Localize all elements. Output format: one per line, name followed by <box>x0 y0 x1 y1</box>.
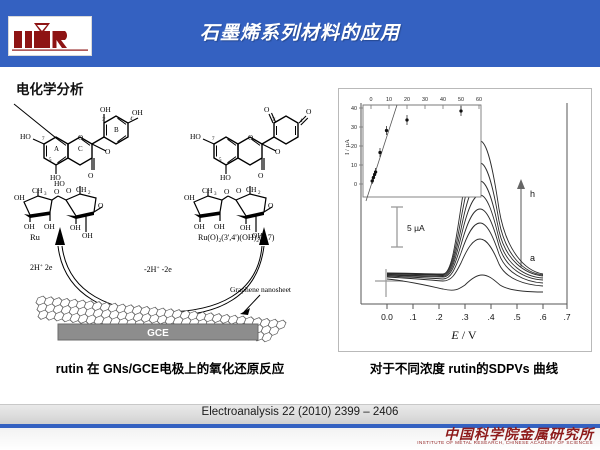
svg-text:50: 50 <box>458 97 464 103</box>
label-ru: Ru <box>30 232 41 242</box>
svg-text:CH: CH <box>202 186 213 195</box>
svg-text:OH: OH <box>132 108 143 117</box>
sdpv-voltammogram-figure: 0.0 .1 .2 .3 .4 .5 .6 .7 E / V 5 µA <box>338 88 592 352</box>
svg-text:HO: HO <box>220 173 231 182</box>
svg-text:.3: .3 <box>461 312 468 322</box>
svg-text:60: 60 <box>476 97 482 103</box>
svg-text:B: B <box>114 126 119 134</box>
svg-text:40: 40 <box>351 106 357 112</box>
arrow-bottom-label: a <box>530 253 535 263</box>
svg-text:HO: HO <box>190 132 201 141</box>
svg-text:A: A <box>54 145 59 153</box>
svg-text:O: O <box>88 171 94 180</box>
svg-text:30: 30 <box>351 125 357 131</box>
slide-canvas: 石墨烯系列材料的应用 电化学分析 <box>0 0 600 450</box>
svg-text:O: O <box>275 147 281 156</box>
svg-text:OH: OH <box>44 222 55 231</box>
svg-text:HO: HO <box>20 132 31 141</box>
caption-right: 对于不同浓度 rutin的SDPVs 曲线 <box>336 358 592 377</box>
svg-text:CH: CH <box>246 185 257 194</box>
svg-text:O: O <box>78 134 83 142</box>
slide-header: 石墨烯系列材料的应用 <box>0 0 600 67</box>
svg-text:0.0: 0.0 <box>381 312 393 322</box>
svg-text:.7: .7 <box>563 312 570 322</box>
label-graphene-nanosheet: Graphene nanosheet <box>230 285 292 294</box>
svg-text:40: 40 <box>440 97 446 103</box>
svg-text:10: 10 <box>351 163 357 169</box>
svg-text:2: 2 <box>258 191 261 196</box>
svg-text:.5: .5 <box>513 312 520 322</box>
svg-text:O: O <box>54 187 60 196</box>
reaction-scheme-svg: HO 7 A C B O 5 HO O O 3' OH 4' OH <box>12 100 330 348</box>
svg-text:O: O <box>224 187 230 196</box>
svg-text:O: O <box>248 134 253 142</box>
footer-citation: Electroanalysis 22 (2010) 2399 – 2406 <box>0 406 600 418</box>
gce-electrode: GCE <box>58 324 258 340</box>
svg-text:20: 20 <box>351 144 357 150</box>
label-reverse-electrons: -2H+ -2e <box>144 265 172 274</box>
caption-left: rutin 在 GNs/GCE电极上的氧化还原反应 <box>10 358 330 377</box>
svg-text:.4: .4 <box>487 312 494 322</box>
svg-text:OH: OH <box>184 193 195 202</box>
label-forward-electrons: 2H+ 2e <box>30 263 53 272</box>
inset-calibration-plot: 0 10 20 30 40 50 60 40 30 <box>344 97 482 201</box>
reaction-scheme-figure: HO 7 A C B O 5 HO O O 3' OH 4' OH <box>12 100 330 348</box>
svg-text:OH: OH <box>214 222 225 231</box>
sdpv-chart-svg: 0.0 .1 .2 .3 .4 .5 .6 .7 E / V 5 µA <box>339 89 589 349</box>
svg-text:O: O <box>264 105 270 114</box>
svg-text:0: 0 <box>370 97 373 103</box>
svg-text:30: 30 <box>422 97 428 103</box>
svg-text:3': 3' <box>272 118 276 123</box>
svg-text:HO: HO <box>54 179 65 188</box>
inset-y-axis-label: I / µA <box>344 139 351 155</box>
svg-text:20: 20 <box>404 97 410 103</box>
scale-bar-label: 5 µA <box>407 223 425 233</box>
svg-text:.2: .2 <box>435 312 442 322</box>
svg-text:O: O <box>236 186 242 195</box>
svg-text:3: 3 <box>44 192 47 197</box>
svg-text:CH: CH <box>32 186 43 195</box>
svg-text:OH: OH <box>14 193 25 202</box>
svg-text:OH: OH <box>194 222 205 231</box>
x-axis-label: E / V <box>450 328 476 342</box>
page-title: 石墨烯系列材料的应用 <box>0 18 600 45</box>
svg-text:OH: OH <box>70 223 81 232</box>
svg-text:O: O <box>98 201 104 210</box>
institute-logo-en: INSTITUTE OF METAL RESEARCH, CHINESE ACA… <box>417 440 593 445</box>
svg-text:O: O <box>306 107 312 116</box>
svg-text:OH: OH <box>100 105 111 114</box>
svg-text:7: 7 <box>42 137 45 142</box>
svg-text:OH: OH <box>240 223 251 232</box>
svg-text:.1: .1 <box>409 312 416 322</box>
svg-text:3: 3 <box>214 192 217 197</box>
svg-text:C: C <box>78 145 83 153</box>
svg-text:O: O <box>105 147 111 156</box>
svg-text:CH: CH <box>76 185 87 194</box>
svg-text:O: O <box>258 171 264 180</box>
svg-text:O: O <box>268 201 274 210</box>
svg-text:0: 0 <box>354 182 357 188</box>
svg-text:2: 2 <box>88 191 91 196</box>
svg-text:GCE: GCE <box>147 328 169 339</box>
svg-text:.6: .6 <box>539 312 546 322</box>
svg-text:OH: OH <box>82 231 93 240</box>
svg-text:OH: OH <box>24 222 35 231</box>
section-subtitle: 电化学分析 <box>16 78 84 98</box>
svg-text:4': 4' <box>300 119 304 124</box>
svg-text:O: O <box>66 186 72 195</box>
svg-text:7: 7 <box>212 137 215 142</box>
arrow-top-label: h <box>530 189 535 199</box>
svg-text:10: 10 <box>386 97 392 103</box>
